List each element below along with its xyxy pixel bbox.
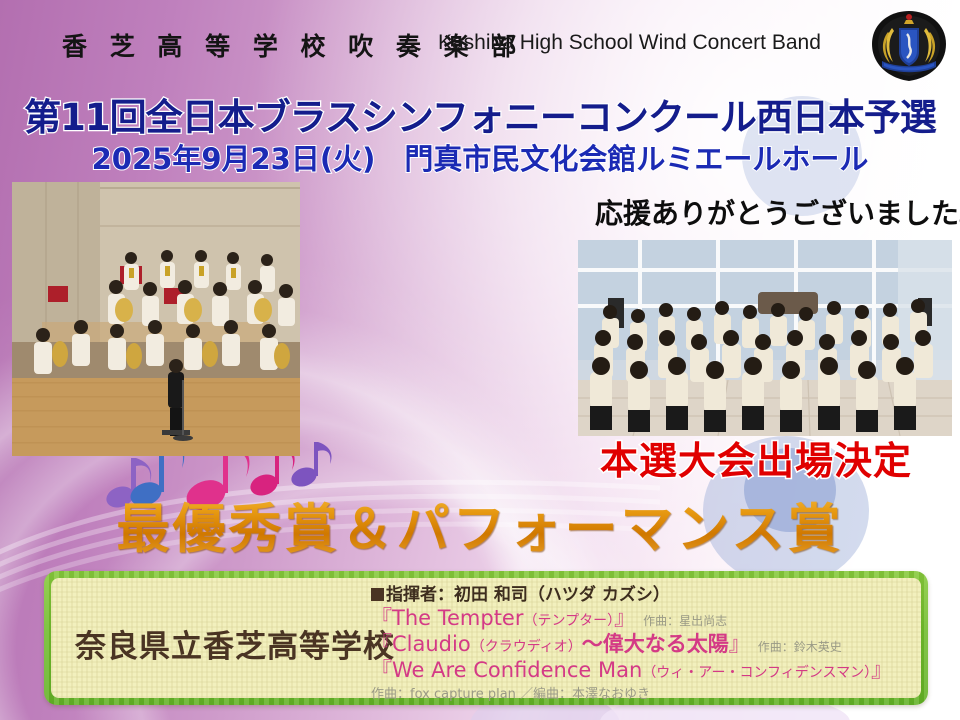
club-name-english: Kashiba High School Wind Concert Band (438, 31, 821, 55)
piece-3-kana: （ウィ・アー・コンフィデンスマン） (642, 665, 871, 681)
program-info: 指揮者：初田 和司（ハツダ カズシ） 『The Tempter（テンプター）』作… (371, 584, 911, 704)
bullet-square-icon (371, 588, 384, 601)
award-title: 最優秀賞＆パフォーマンス賞 (117, 487, 844, 563)
piece-2-title: Claudio (392, 632, 471, 656)
thanks-message: 応援ありがとうございました。 (595, 192, 960, 232)
piece-2-close: 』 (729, 632, 750, 656)
stage-performance-photo (12, 182, 300, 456)
piece-2-suffix: ～偉大なる太陽 (582, 632, 729, 656)
program-piece-1: 『The Tempter（テンプター）』作曲：星出尚志 (371, 607, 911, 633)
conductor-name: 初田 和司 (454, 585, 528, 605)
piece-1-kana: （テンプター） (524, 613, 615, 629)
poster-root: 香 芝 高 等 学 校 吹 奏 楽 部 Kashiba High School … (0, 0, 960, 720)
event-date-venue: 2025年9月23日(火) 門真市民文化会館ルミエールホール (92, 136, 869, 178)
conductor-label: 指揮者： (386, 585, 454, 605)
program-piece-3: 『We Are Confidence Man（ウィ・アー・コンフィデンスマン）』 (371, 659, 911, 685)
school-name: 奈良県立香芝高等学校 (75, 621, 395, 666)
piece-1-close: 』 (614, 606, 635, 630)
info-panel-inner: 奈良県立香芝高等学校 指揮者：初田 和司（ハツダ カズシ） 『The Tempt… (51, 578, 921, 698)
page-title: 第11回全日本ブラスシンフォニーコンクール西日本予選 (24, 87, 936, 141)
school-crest-icon (866, 8, 952, 84)
group-photo (578, 240, 952, 436)
piece-1-open: 『 (371, 606, 392, 630)
program-piece-2: 『Claudio（クラウディオ）～偉大なる太陽』作曲：鈴木英史 (371, 633, 911, 659)
conductor-line: 指揮者：初田 和司（ハツダ カズシ） (371, 584, 911, 607)
header-band: 香 芝 高 等 学 校 吹 奏 楽 部 Kashiba High School … (0, 0, 960, 84)
piece-1-title: The Tempter (392, 606, 524, 630)
info-panel: 奈良県立香芝高等学校 指揮者：初田 和司（ハツダ カズシ） 『The Tempt… (44, 571, 928, 705)
piece-2-open: 『 (371, 632, 392, 656)
piece-3-credit: 作曲：fox capture plan ／編曲：本澤なおゆき (371, 685, 911, 704)
conductor-kana: （ハツダ カズシ） (528, 585, 670, 605)
piece-3-close: 』 (871, 658, 892, 682)
piece-2-credit: 作曲：鈴木英史 (758, 640, 842, 654)
piece-3-open: 『 (371, 658, 392, 682)
piece-2-kana: （クラウディオ） (471, 639, 582, 655)
finals-qualification-text: 本選大会出場決定 (600, 430, 912, 485)
piece-3-title: We Are Confidence Man (392, 658, 642, 682)
piece-1-credit: 作曲：星出尚志 (643, 614, 727, 628)
